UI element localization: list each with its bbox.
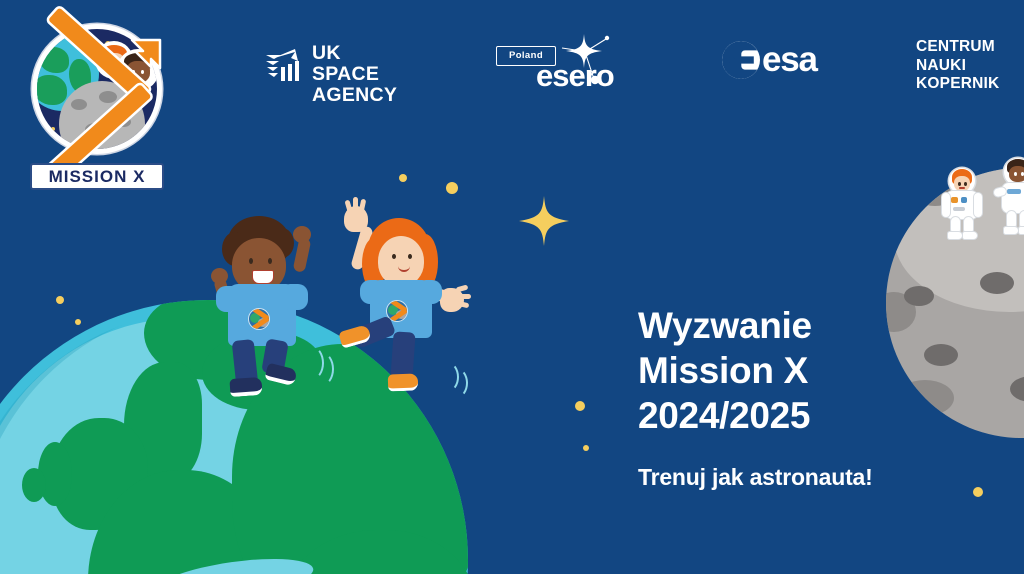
emblem-arrowhead-icon xyxy=(126,38,164,76)
star-dot-icon xyxy=(446,182,458,194)
girl-sleeve xyxy=(360,280,380,304)
boy-mouth xyxy=(252,270,274,284)
boy-fist xyxy=(211,268,228,284)
astronaut-boot xyxy=(963,232,977,239)
girl-eye xyxy=(408,254,412,259)
astronaut-chest-patch xyxy=(1007,189,1021,194)
sparkle-star-icon xyxy=(519,196,569,246)
mission-x-promo-banner: MISSION X UK SPACE AGENCY xyxy=(0,0,1024,574)
girl-open-hand xyxy=(440,288,464,312)
mission-x-shirt-badge-icon xyxy=(248,308,270,330)
girl-finger xyxy=(456,284,469,292)
astronaut-left xyxy=(941,168,983,240)
esero-wordmark: esero xyxy=(536,60,614,91)
astronaut-eye xyxy=(964,182,967,186)
page-subtitle: Trenuj jak astronauta! xyxy=(638,464,968,491)
star-dot-icon xyxy=(56,296,64,304)
boy-shoe xyxy=(229,377,262,397)
astronaut-boot xyxy=(1004,227,1018,234)
headline-block: Wyzwanie Mission X 2024/2025 Trenuj jak … xyxy=(638,303,968,491)
astronaut-arm xyxy=(974,193,982,217)
esero-poland-logo[interactable]: Poland esero xyxy=(492,36,632,91)
star-dot-icon xyxy=(583,445,589,451)
astronaut-eye xyxy=(958,182,961,186)
astronaut-arm xyxy=(942,193,950,217)
kopernik-science-centre-logo[interactable]: CENTRUM NAUKI KOPERNIK xyxy=(916,38,999,94)
girl-shoe xyxy=(388,373,419,391)
astronaut-boot xyxy=(948,232,962,239)
moon-crater xyxy=(1010,376,1024,402)
astronaut-chest-patch xyxy=(951,197,958,203)
star-dot-icon xyxy=(75,319,81,325)
esa-logo[interactable]: esa xyxy=(722,40,827,85)
mission-x-wordmark: MISSION X xyxy=(30,163,164,190)
uk-space-agency-arrow-icon xyxy=(265,45,305,85)
astronaut-eye xyxy=(1014,172,1017,176)
boy-sleeve xyxy=(216,286,238,312)
boy-eye xyxy=(268,258,272,264)
boy-sleeve xyxy=(286,284,308,310)
page-title: Wyzwanie Mission X 2024/2025 xyxy=(638,303,968,438)
moon-crater xyxy=(980,272,1014,294)
esa-globe-icon xyxy=(722,41,760,79)
motion-arc xyxy=(310,352,334,386)
boy-fist xyxy=(293,226,311,243)
motion-arc xyxy=(446,368,468,398)
partner-logo-row: MISSION X UK SPACE AGENCY xyxy=(0,0,1024,105)
astronaut-boot xyxy=(1019,227,1024,234)
girl-finger xyxy=(353,197,358,211)
girl-sleeve xyxy=(422,280,442,304)
astronaut-torso xyxy=(1002,183,1024,213)
astronaut-chest-patch xyxy=(953,207,965,211)
astronaut-helmet-icon xyxy=(1004,158,1024,186)
girl-finger xyxy=(458,294,471,299)
uk-space-agency-wordmark: UK SPACE AGENCY xyxy=(312,43,400,106)
star-dot-icon xyxy=(575,401,585,411)
mission-x-logo[interactable]: MISSION X xyxy=(22,24,172,204)
astronaut-chest-patch xyxy=(961,197,967,203)
girl-eye xyxy=(392,254,396,259)
astronaut-right xyxy=(1000,158,1024,234)
star-dot-icon xyxy=(399,174,407,182)
boy-eye xyxy=(249,258,253,264)
girl-face xyxy=(378,236,424,286)
star-dot-icon xyxy=(973,487,983,497)
esa-wordmark: esa xyxy=(762,40,817,80)
boy-shoe xyxy=(264,363,297,387)
uk-space-agency-logo[interactable]: UK SPACE AGENCY xyxy=(265,41,400,89)
